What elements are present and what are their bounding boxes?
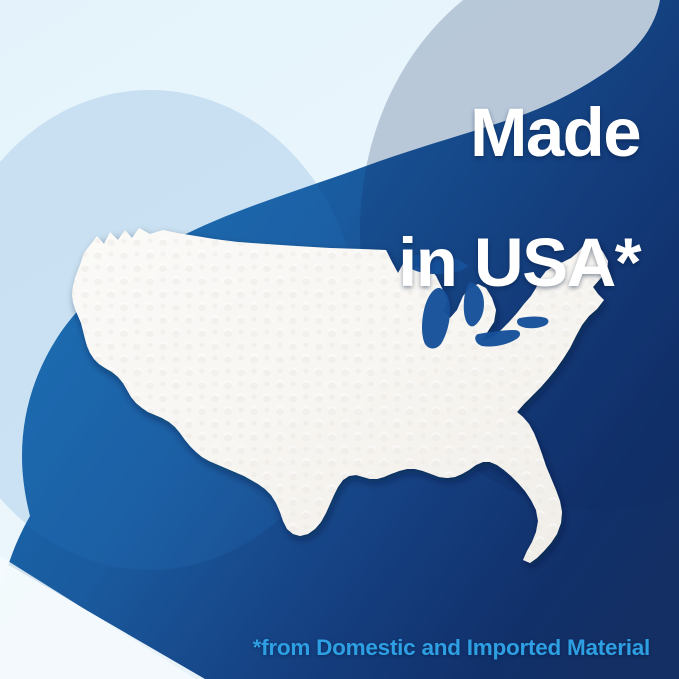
poster-canvas: Made in USA* *from Domestic and Imported… <box>0 0 679 679</box>
poster-artwork <box>0 0 679 679</box>
